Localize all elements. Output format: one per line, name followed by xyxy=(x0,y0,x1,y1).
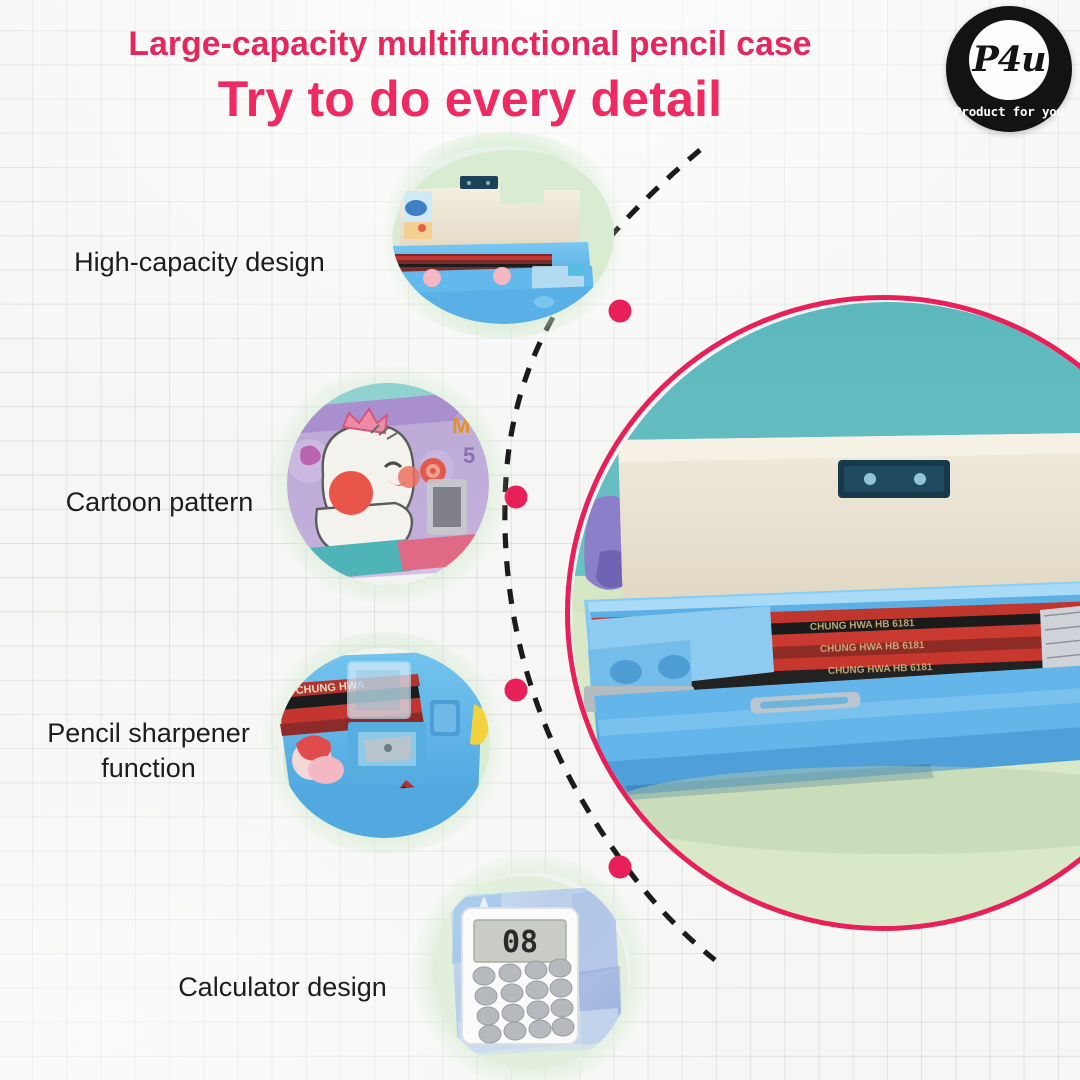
headline-secondary: Try to do every detail xyxy=(0,71,940,127)
hero-product-image[interactable]: CHUNG HWA HB 6181 CHUNG HWA HB 6181 CHUN… xyxy=(565,295,1080,931)
headline-primary: Large-capacity multifunctional pencil ca… xyxy=(5,26,936,63)
infographic-canvas: Large-capacity multifunctional pencil ca… xyxy=(0,0,1080,1080)
feature-label-cartoon-pattern: Cartoon pattern xyxy=(42,485,277,520)
calculator-display-value: 08 xyxy=(502,925,538,960)
logo-wordmark: P4u xyxy=(972,42,1045,77)
logo-tagline: Product for you xyxy=(954,104,1064,119)
logo-disc: P4u xyxy=(969,20,1049,100)
feature-label-calculator: Calculator design xyxy=(160,970,405,1005)
feature-thumbnail-cartoon-pattern[interactable]: M 5 xyxy=(287,383,489,585)
feature-thumbnail-high-capacity[interactable] xyxy=(392,146,614,324)
feature-label-high-capacity: High-capacity design xyxy=(62,245,337,280)
svg-text:5: 5 xyxy=(463,443,475,468)
feature-label-pencil-sharpener: Pencil sharpener function xyxy=(26,716,271,785)
feature-thumbnail-pencil-sharpener[interactable]: CHUNG HWA xyxy=(278,648,490,838)
title-block: Large-capacity multifunctional pencil ca… xyxy=(0,26,940,127)
brand-logo[interactable]: P4u Product for you xyxy=(946,6,1072,132)
